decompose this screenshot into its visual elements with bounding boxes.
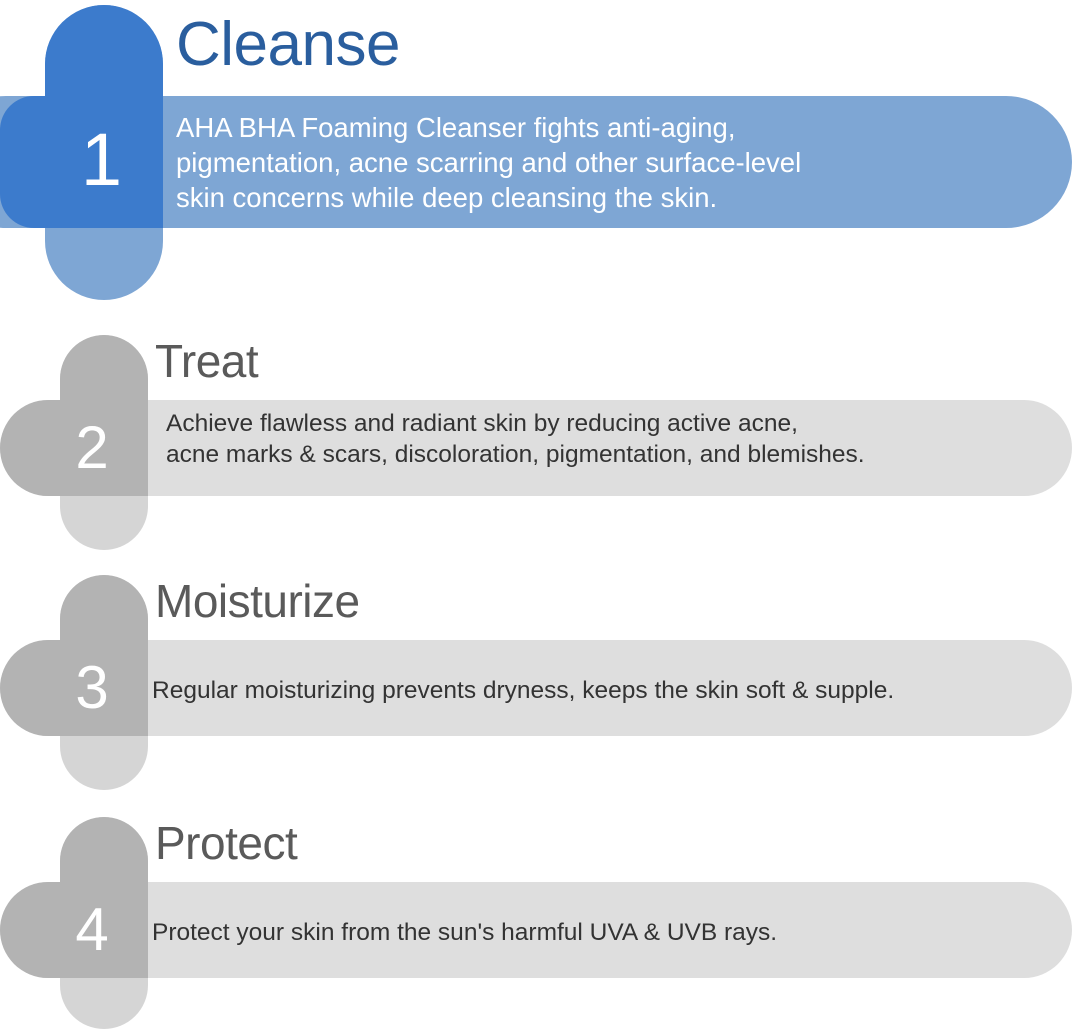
step-1-description: AHA BHA Foaming Cleanser fights anti-agi… <box>176 110 801 216</box>
step-3-description-line-1: Regular moisturizing prevents dryness, k… <box>152 675 894 706</box>
skincare-routine-infographic: 1 Cleanse AHA BHA Foaming Cleanser fight… <box>0 0 1080 1029</box>
step-1-description-line-1: AHA BHA Foaming Cleanser fights anti-agi… <box>176 110 801 145</box>
step-2-description-line-2: acne marks & scars, discoloration, pigme… <box>166 439 865 470</box>
step-block-3: 3 Moisturize Regular moisturizing preven… <box>0 570 1080 795</box>
step-3-number-badge: 3 <box>0 640 148 736</box>
step-4-title: Protect <box>155 820 297 866</box>
step-4-number-badge: 4 <box>0 882 148 978</box>
step-1-description-line-3: skin concerns while deep cleansing the s… <box>176 180 801 215</box>
step-1-number-label: 1 <box>81 123 122 197</box>
step-2-number-label: 2 <box>75 418 108 478</box>
step-2-number-badge: 2 <box>0 400 148 496</box>
step-1-title: Cleanse <box>176 14 400 76</box>
step-4-description-line-1: Protect your skin from the sun's harmful… <box>152 917 777 948</box>
step-3-description: Regular moisturizing prevents dryness, k… <box>152 675 894 706</box>
step-block-2: 2 Treat Achieve flawless and radiant ski… <box>0 330 1080 555</box>
step-2-description-line-1: Achieve flawless and radiant skin by red… <box>166 408 865 439</box>
step-1-description-line-2: pigmentation, acne scarring and other su… <box>176 145 801 180</box>
step-1-number-badge: 1 <box>0 96 163 228</box>
step-2-title: Treat <box>155 338 258 384</box>
step-3-number-label: 3 <box>75 658 108 718</box>
step-3-title: Moisturize <box>155 578 360 624</box>
step-4-number-label: 4 <box>75 900 108 960</box>
step-2-description: Achieve flawless and radiant skin by red… <box>166 408 865 471</box>
step-4-description: Protect your skin from the sun's harmful… <box>152 917 777 948</box>
step-block-1: 1 Cleanse AHA BHA Foaming Cleanser fight… <box>0 0 1080 320</box>
step-block-4: 4 Protect Protect your skin from the sun… <box>0 812 1080 1029</box>
